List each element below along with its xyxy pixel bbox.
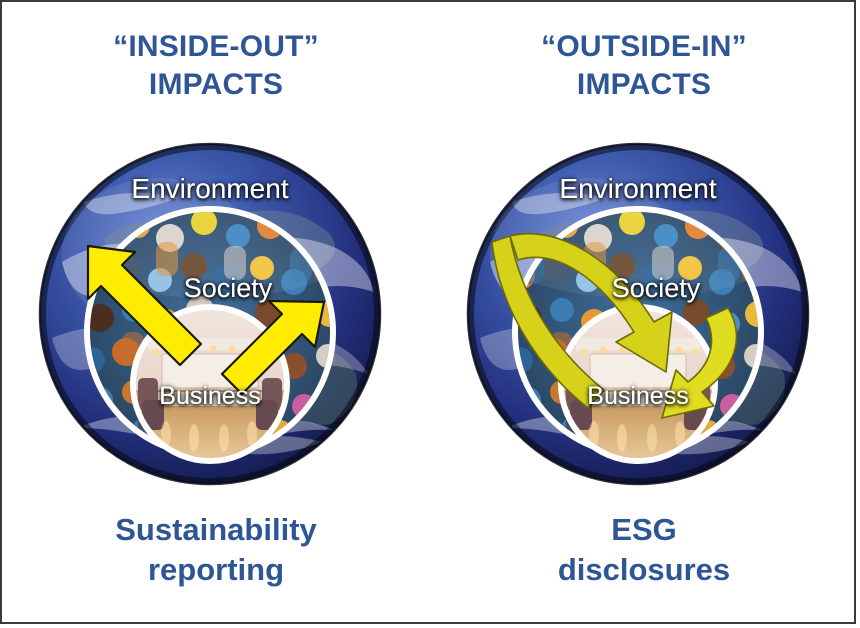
diagram-frame: “INSIDE-OUT” IMPACTS — [0, 0, 856, 624]
panel-caption-inside-out: Sustainability reporting — [2, 510, 430, 591]
label-society: Society — [612, 273, 701, 303]
panel-title-outside-in: “OUTSIDE-IN” IMPACTS — [430, 28, 858, 105]
label-environment: Environment — [131, 173, 288, 204]
nested-circles-diagram-inside-out: Environment Society Business — [38, 142, 382, 486]
panel-title-inside-out: “INSIDE-OUT” IMPACTS — [2, 28, 430, 105]
label-business: Business — [587, 382, 688, 410]
panel-outside-in: “OUTSIDE-IN” IMPACTS — [430, 2, 858, 626]
label-society: Society — [184, 273, 273, 303]
panel-inside-out: “INSIDE-OUT” IMPACTS — [2, 2, 430, 626]
label-environment: Environment — [559, 173, 716, 204]
panel-caption-outside-in: ESG disclosures — [430, 510, 858, 591]
nested-circles-diagram-outside-in: Environment Society Business — [466, 142, 810, 486]
label-business: Business — [159, 382, 260, 410]
